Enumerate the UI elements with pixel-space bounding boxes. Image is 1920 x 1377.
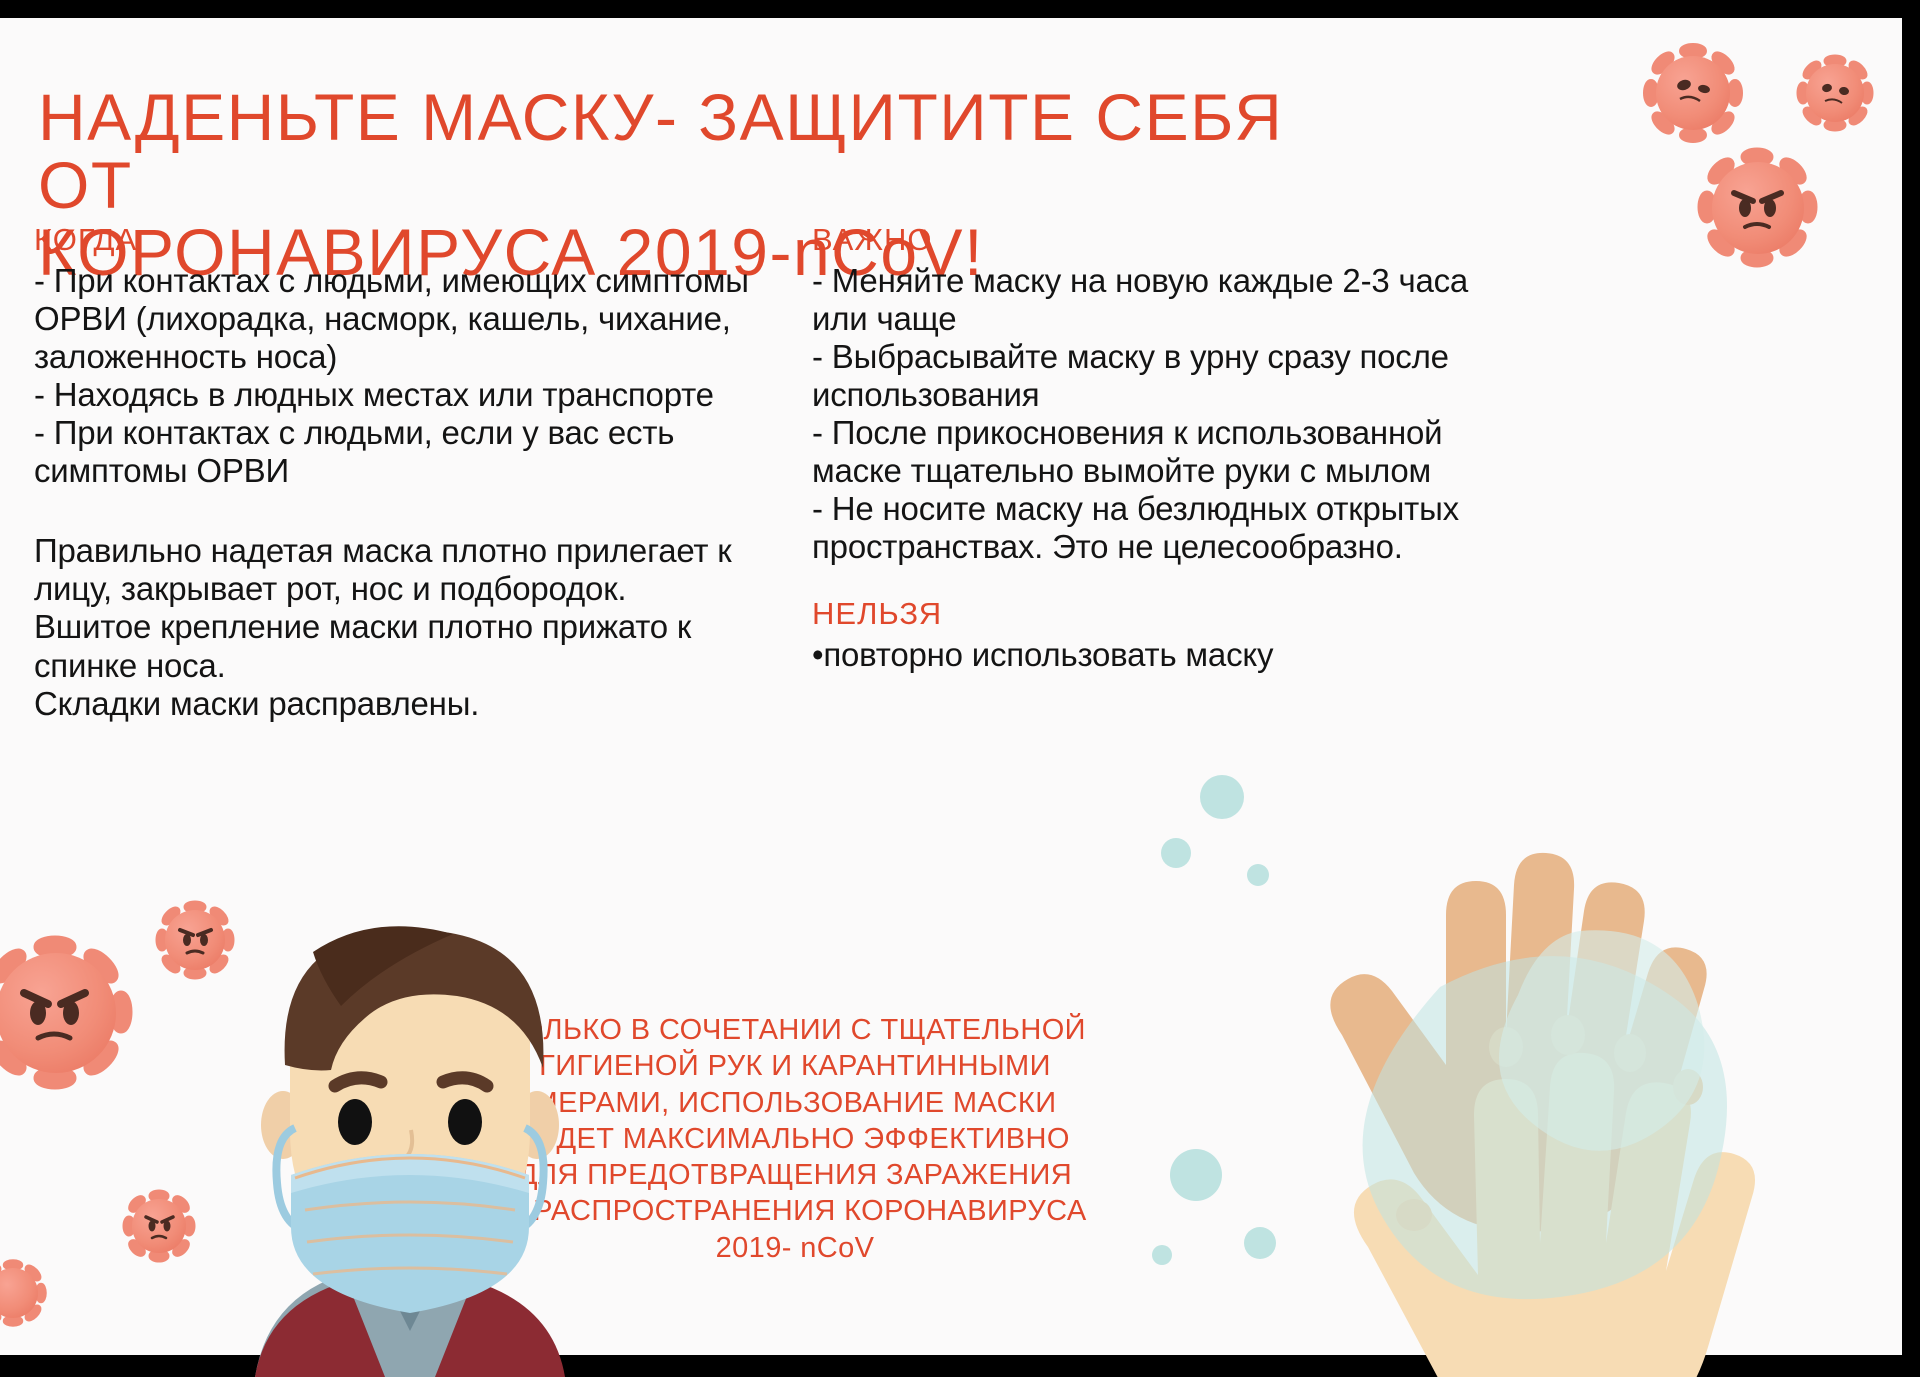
section-heading-important: ВАЖНО bbox=[812, 222, 1512, 259]
bubble bbox=[1200, 775, 1244, 819]
virus-face-angry bbox=[1690, 140, 1825, 275]
forbidden-list-text: •повторно использовать маску bbox=[812, 636, 1512, 674]
bubble bbox=[1161, 838, 1191, 868]
virus-icon bbox=[1792, 50, 1878, 136]
bubble bbox=[1244, 1227, 1276, 1259]
left-column: КОГДА - При контактах с людьми, имеющих … bbox=[34, 222, 794, 723]
important-list-text: - Меняйте маску на новую каждые 2-3 часа… bbox=[812, 262, 1512, 567]
hands-washing-illustration bbox=[1110, 735, 1900, 1377]
spacer bbox=[812, 566, 1512, 596]
letterbox-top bbox=[0, 0, 1920, 18]
virus-icon bbox=[1638, 38, 1748, 148]
virus-face-angry bbox=[118, 1185, 200, 1267]
section-heading-when: КОГДА bbox=[34, 222, 794, 259]
spacer bbox=[34, 490, 794, 532]
when-list-text: - При контактах с людьми, имеющих симпто… bbox=[34, 262, 794, 491]
bubble bbox=[1247, 864, 1269, 886]
eye-right bbox=[448, 1099, 482, 1145]
letterbox-right bbox=[1902, 0, 1920, 1377]
virus-icon bbox=[118, 1185, 200, 1267]
virus-face bbox=[1792, 50, 1878, 136]
bubble bbox=[1152, 1245, 1172, 1265]
virus-icon bbox=[1690, 140, 1825, 275]
virus-face-angry bbox=[0, 925, 143, 1100]
virus-icon bbox=[0, 1255, 51, 1331]
man-with-mask-illustration bbox=[195, 890, 625, 1377]
poster-canvas: НАДЕНЬТЕ МАСКУ- ЗАЩИТИТЕ СЕБЯ ОТ КОРОНАВ… bbox=[0, 0, 1920, 1377]
virus-face bbox=[1638, 38, 1748, 148]
mask-fit-paragraph: Правильно надетая маска плотно прилегает… bbox=[34, 532, 794, 723]
bubble bbox=[1170, 1149, 1222, 1201]
section-heading-forbidden: НЕЛЬЗЯ bbox=[812, 596, 1512, 633]
eye-left bbox=[338, 1099, 372, 1145]
virus-icon bbox=[0, 925, 143, 1100]
right-column: ВАЖНО - Меняйте маску на новую каждые 2-… bbox=[812, 222, 1512, 674]
